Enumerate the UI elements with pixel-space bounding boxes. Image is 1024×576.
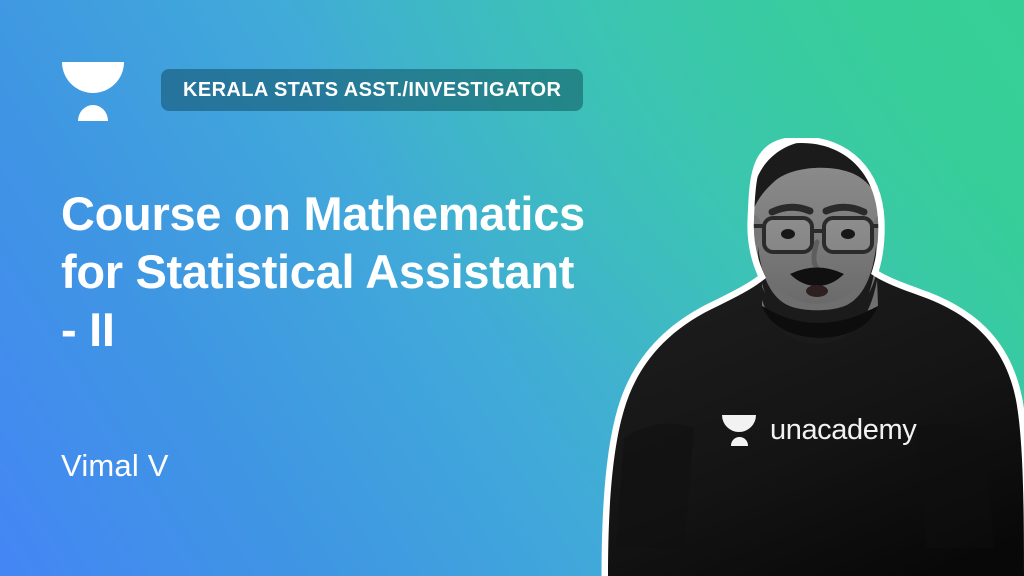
course-thumbnail: KERALA STATS ASST./INVESTIGATOR Course o… xyxy=(0,0,1024,576)
logo-stem-shape xyxy=(89,92,97,104)
educator-photo xyxy=(586,138,1024,576)
course-title-line-2: for Statistical Assistant xyxy=(61,243,661,301)
logo-foot-shape xyxy=(78,105,108,121)
course-title-line-1: Course on Mathematics xyxy=(61,185,661,243)
unacademy-logo-icon xyxy=(62,62,124,122)
logo-bowl-shape xyxy=(62,62,124,93)
category-badge-label: KERALA STATS ASST./INVESTIGATOR xyxy=(183,79,561,102)
category-badge: KERALA STATS ASST./INVESTIGATOR xyxy=(161,69,583,111)
course-title-line-3: - II xyxy=(61,301,661,359)
tshirt-unacademy-logo: unacademy xyxy=(722,404,922,456)
instructor-name: Vimal V xyxy=(61,448,169,484)
tshirt-logo-icon xyxy=(722,413,756,447)
tshirt-wordmark: unacademy xyxy=(770,416,916,445)
tshirt-logo-foot-shape xyxy=(731,437,748,446)
tshirt-logo-bowl-shape xyxy=(722,415,756,432)
course-title: Course on Mathematics for Statistical As… xyxy=(61,185,661,359)
